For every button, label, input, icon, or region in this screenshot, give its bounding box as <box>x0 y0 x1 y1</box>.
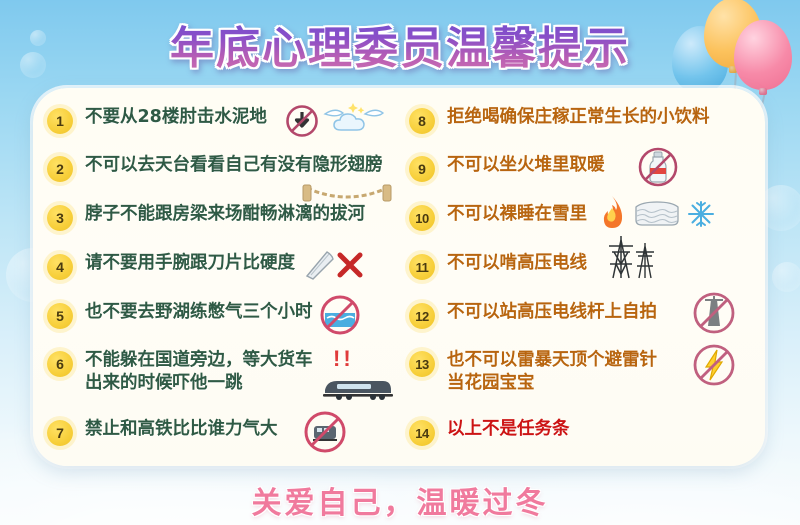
item-text-line2: 出来的时候吓他一跳 <box>85 372 313 395</box>
list-item[interactable]: 3 脖子不能跟房梁来场酣畅淋漓的拔河 <box>47 203 365 231</box>
no-down-arrow-icon <box>285 104 319 138</box>
no-pylon-icon <box>691 290 737 336</box>
double-exclamation-icon: !! <box>333 346 354 372</box>
item-number-badge: 8 <box>409 108 435 134</box>
no-lightning-icon <box>691 342 737 388</box>
item-number-badge: 7 <box>47 420 73 446</box>
item-number-badge: 4 <box>47 254 73 280</box>
snowflake-icon <box>687 200 715 228</box>
item-number-badge: 11 <box>409 254 435 280</box>
item-number-badge: 10 <box>409 205 435 231</box>
fire-icon <box>597 194 627 230</box>
list-item[interactable]: 11 不可以啃高压电线 <box>409 252 587 280</box>
item-text: 也不可以雷暴天顶个避雷针 <box>447 349 657 372</box>
item-text: 不要从28楼肘击水泥地 <box>85 106 267 129</box>
right-column: 8 拒绝喝确保庄稼正常生长的小饮料 9 不可以坐火堆里取暖 10 不可以裸睡在雪… <box>399 88 765 466</box>
list-item[interactable]: 6 不能躲在国道旁边，等大货车 出来的时候吓他一跳 <box>47 349 313 395</box>
no-bottle-icon <box>637 146 679 188</box>
item-number-badge: 6 <box>47 351 73 377</box>
item-text: 不可以去天台看看自己有没有隐形翅膀 <box>85 154 383 177</box>
item-number-badge: 14 <box>409 420 435 446</box>
list-item[interactable]: 2 不可以去天台看看自己有没有隐形翅膀 <box>47 154 383 182</box>
item-text: 不可以裸睡在雪里 <box>447 203 587 226</box>
list-item[interactable]: 12 不可以站高压电线杆上自拍 <box>409 301 657 329</box>
list-item[interactable]: 14 以上不是任务条 <box>409 418 570 446</box>
item-text: 请不要用手腕跟刀片比硬度 <box>85 252 295 275</box>
rope-swag-icon <box>301 184 393 206</box>
item-text: 禁止和高铁比比谁力气大 <box>85 418 278 441</box>
item-number-badge: 2 <box>47 156 73 182</box>
list-item[interactable]: 7 禁止和高铁比比谁力气大 <box>47 418 278 446</box>
page-title: 年底心理委员温馨提示 <box>170 12 630 76</box>
item-text: 不可以啃高压电线 <box>447 252 587 275</box>
item-number-badge: 3 <box>47 205 73 231</box>
item-number-badge: 13 <box>409 351 435 377</box>
title-area: 年底心理委员温馨提示 <box>0 12 800 76</box>
list-item[interactable]: 10 不可以裸睡在雪里 <box>409 203 587 231</box>
pylon-icon <box>607 234 657 280</box>
list-item[interactable]: 1 不要从28楼肘击水泥地 <box>47 106 267 134</box>
no-train-icon <box>303 410 347 454</box>
truck-icon <box>321 374 395 400</box>
list-item[interactable]: 5 也不要去野湖练憋气三个小时 <box>47 301 313 329</box>
item-number-badge: 12 <box>409 303 435 329</box>
left-column: 1 不要从28楼肘击水泥地 2 不可以去天台看看自己有没有隐形翅膀 3 脖子不能… <box>33 88 399 466</box>
item-number-badge: 9 <box>409 156 435 182</box>
item-text: 不能躲在国道旁边，等大货车 <box>85 349 313 372</box>
no-swimming-icon <box>319 294 361 336</box>
item-number-badge: 5 <box>47 303 73 329</box>
item-text: 不可以坐火堆里取暖 <box>447 154 605 177</box>
angel-wings-cloud-icon <box>323 102 385 138</box>
item-text: 脖子不能跟房梁来场酣畅淋漓的拔河 <box>85 203 365 226</box>
tips-card: 1 不要从28楼肘击水泥地 2 不可以去天台看看自己有没有隐形翅膀 3 脖子不能… <box>33 88 765 466</box>
item-text: 以上不是任务条 <box>447 418 570 441</box>
bubble-icon <box>772 262 800 292</box>
footer-slogan: 关爱自己，温暖过冬 <box>252 486 549 521</box>
item-text: 不可以站高压电线杆上自拍 <box>447 301 657 324</box>
quilt-icon <box>633 200 681 228</box>
list-item[interactable]: 9 不可以坐火堆里取暖 <box>409 154 605 182</box>
item-number-badge: 1 <box>47 108 73 134</box>
red-cross-icon <box>335 250 365 280</box>
item-text: 也不要去野湖练憋气三个小时 <box>85 301 313 324</box>
footer-area: 关爱自己，温暖过冬 <box>0 478 800 522</box>
item-text-line2: 当花园宝宝 <box>447 372 657 395</box>
list-item[interactable]: 8 拒绝喝确保庄稼正常生长的小饮料 <box>409 106 710 134</box>
blade-icon <box>303 248 339 282</box>
list-item[interactable]: 4 请不要用手腕跟刀片比硬度 <box>47 252 295 280</box>
list-item[interactable]: 13 也不可以雷暴天顶个避雷针 当花园宝宝 <box>409 349 657 395</box>
item-text: 拒绝喝确保庄稼正常生长的小饮料 <box>447 106 710 129</box>
